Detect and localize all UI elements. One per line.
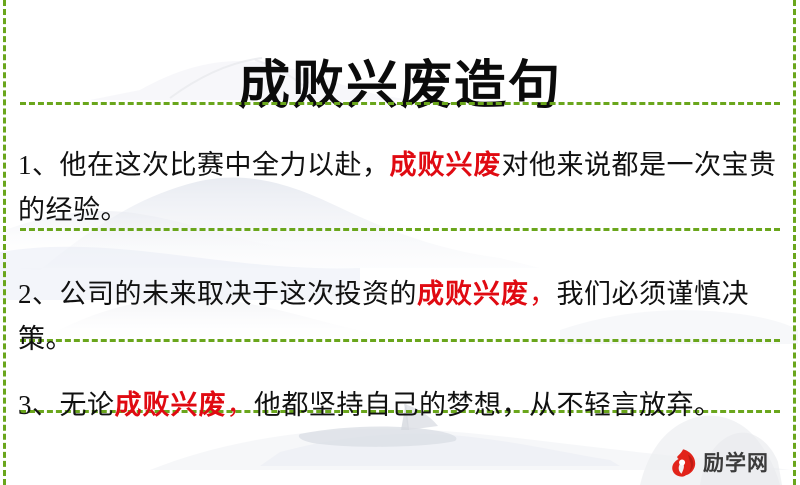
highlighted-idiom: 成败兴废 xyxy=(115,390,227,420)
site-logo[interactable]: 励学网 xyxy=(668,447,786,479)
example-sentence-1: 1、他在这次比赛中全力以赴，成败兴废对他来说都是一次宝贵的经验。 xyxy=(18,143,782,233)
flame-swirl-icon xyxy=(668,448,698,478)
site-logo-text: 励学网 xyxy=(703,448,769,478)
highlighted-idiom: 成败兴废 xyxy=(417,279,529,309)
sentence-text-after: 他都坚持自己的梦想，从不轻言放弃。 xyxy=(254,390,722,420)
example-sentence-3: 3、无论成败兴废，他都坚持自己的梦想，从不轻言放弃。 xyxy=(18,383,782,428)
sentence-text-before: 公司的未来取决于这次投资的 xyxy=(60,279,418,309)
sentence-number: 3、 xyxy=(18,390,60,420)
highlighted-idiom-punctuation: ， xyxy=(227,390,255,420)
sentence-number: 2、 xyxy=(18,279,60,309)
page-border-left xyxy=(3,0,6,485)
sentence-number: 1、 xyxy=(18,150,60,180)
sentence-text-before: 无论 xyxy=(60,390,115,420)
page-root: 成败兴废造句 1、他在这次比赛中全力以赴，成败兴废对他来说都是一次宝贵的经验。 … xyxy=(0,0,800,485)
page-title: 成败兴废造句 xyxy=(0,51,800,121)
highlighted-idiom: 成败兴废 xyxy=(390,150,502,180)
highlighted-idiom-punctuation: ， xyxy=(529,279,557,309)
page-border-right xyxy=(793,0,796,485)
divider-above-sentence-1 xyxy=(20,102,780,105)
sentence-text-before: 他在这次比赛中全力以赴， xyxy=(60,150,390,180)
example-sentence-2: 2、公司的未来取决于这次投资的成败兴废，我们必须谨慎决策。 xyxy=(18,272,782,362)
